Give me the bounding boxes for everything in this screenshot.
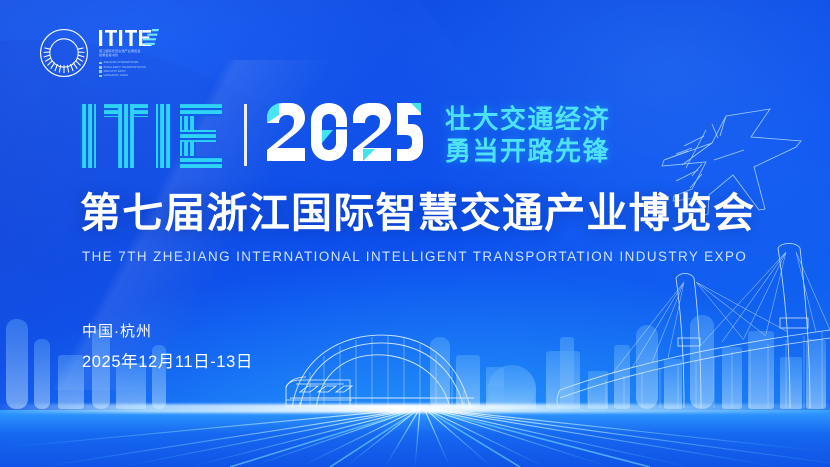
event-location: 中国·杭州 [82, 320, 253, 344]
bullet-square-icon [99, 70, 102, 73]
event-meta: 中国·杭州 2025年12月11日-13日 [82, 320, 253, 375]
event-date: 2025年12月11日-13日 [82, 349, 253, 375]
itie-logo[interactable]: 浙江国际智慧交通产业博览会 组委会秘书处 ZHEJIANG INTERNATIO… [38, 27, 161, 79]
slogan-line-1: 壮大交通经济 [445, 104, 610, 134]
headline-divider [244, 104, 247, 166]
bullet-square-icon [99, 66, 102, 69]
slogan-line-2: 勇当开路先锋 [445, 136, 610, 166]
bullet-square-icon [99, 75, 102, 78]
logo-subtext-list: ZHEJIANG INTERNATIONAL INTELLIGENT TRANS… [99, 61, 161, 77]
year-2025 [263, 100, 423, 172]
page-subtitle-english: THE 7TH ZHEJIANG INTERNATIONAL INTELLIGE… [82, 248, 747, 266]
slogan-block: 壮大交通经济 勇当开路先锋 [445, 104, 610, 166]
headline-row: 壮大交通经济 勇当开路先锋 [78, 100, 610, 172]
horizon-core-flare [300, 405, 600, 410]
page-title-chinese: 第七届浙江国际智慧交通产业博览会 [80, 188, 755, 238]
bullet-square-icon [99, 62, 102, 65]
perspective-light-rays [0, 408, 830, 467]
itie-wordmark [99, 29, 161, 47]
itie-brand-striped [78, 100, 226, 172]
itie-circular-emblem [38, 27, 90, 79]
logo-microtext: 浙江国际智慧交通产业博览会 组委会秘书处 [99, 49, 161, 58]
poster-canvas: 浙江国际智慧交通产业博览会 组委会秘书处 ZHEJIANG INTERNATIO… [0, 0, 830, 467]
